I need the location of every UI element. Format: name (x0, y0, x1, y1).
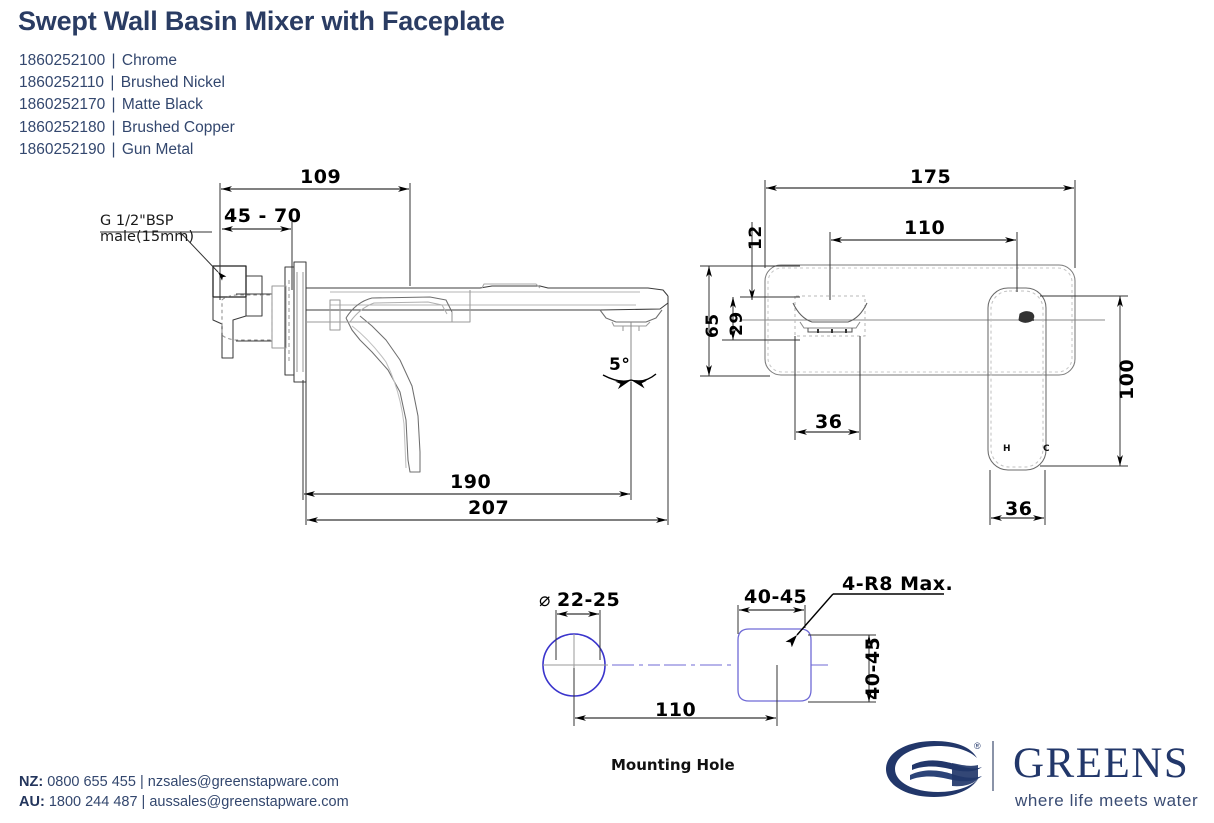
dimension-label-45-70: 45 - 70 (224, 205, 302, 227)
sku-list: 1860252100 | Chrome 1860252110 | Brushed… (19, 50, 235, 161)
dimension-label-36-spout: 36 (815, 411, 842, 433)
dimension-label-110-spacing: 110 (655, 699, 696, 721)
bsp-note-line2: male(15mm) (100, 229, 194, 245)
contact-phone-nz: 0800 655 455 (47, 774, 136, 790)
list-item: 1860252100 | Chrome (19, 50, 235, 72)
contact-email-au[interactable]: aussales@greenstapware.com (149, 794, 348, 810)
footer-contacts: NZ: 0800 655 455 | nzsales@greenstapware… (19, 772, 349, 812)
greens-g-wave-icon (882, 739, 988, 799)
sku-finish: Brushed Copper (122, 119, 235, 136)
handle-marker-hot: H (1003, 444, 1011, 454)
brand-tagline: where life meets water (1015, 791, 1198, 811)
contact-region-nz: NZ: (19, 774, 43, 790)
sku-code: 1860252170 (19, 96, 105, 113)
dimension-label-diameter-symbol: ⌀ (539, 589, 551, 611)
sku-separator: | (110, 96, 118, 113)
brand-name: GREENS (1013, 738, 1189, 790)
side-view-geometry (213, 262, 668, 472)
dimension-label-29: 29 (727, 311, 747, 336)
dimension-label-100: 100 (1116, 359, 1138, 400)
list-item: 1860252190 | Gun Metal (19, 139, 235, 161)
dimension-label-207: 207 (468, 497, 509, 519)
list-item: 1860252170 | Matte Black (19, 94, 235, 116)
sku-separator: | (110, 141, 118, 158)
sku-separator: | (110, 52, 118, 69)
dimension-label-12: 12 (746, 225, 766, 250)
sku-finish: Matte Black (122, 96, 203, 113)
dimension-label-175: 175 (910, 166, 951, 188)
sku-finish: Gun Metal (122, 141, 194, 158)
contact-phone-au: 1800 244 487 (49, 794, 138, 810)
contact-row-nz: NZ: 0800 655 455 | nzsales@greenstapware… (19, 772, 349, 792)
front-view-geometry (740, 265, 1105, 470)
sku-code: 1860252190 (19, 141, 105, 158)
contact-separator: | (142, 794, 146, 810)
sku-code: 1860252180 (19, 119, 105, 136)
spec-sheet: Swept Wall Basin Mixer with Faceplate 18… (0, 0, 1214, 823)
handle-marker-cold: C (1043, 444, 1050, 454)
brand-logo: ® GREENS where life meets water (882, 737, 1198, 815)
dimension-label-109: 109 (300, 166, 341, 188)
contact-row-au: AU: 1800 244 487 | aussales@greenstapwar… (19, 792, 349, 812)
list-item: 1860252180 | Brushed Copper (19, 117, 235, 139)
page-title: Swept Wall Basin Mixer with Faceplate (18, 6, 505, 37)
list-item: 1860252110 | Brushed Nickel (19, 72, 235, 94)
bsp-note-line1: G 1/2"BSP (100, 213, 174, 229)
contact-email-nz[interactable]: nzsales@greenstapware.com (148, 774, 339, 790)
dimension-label-5-degrees: 5° (609, 355, 630, 375)
mounting-hole-dimension-lines (556, 594, 944, 726)
bsp-thread-note: G 1/2"BSP male(15mm) (100, 213, 194, 245)
contact-separator: | (140, 774, 144, 790)
sku-finish: Chrome (122, 52, 177, 69)
dimension-label-110-front: 110 (904, 217, 945, 239)
mounting-hole-geometry (543, 629, 828, 701)
sku-finish: Brushed Nickel (121, 74, 225, 91)
dimension-label-65: 65 (703, 313, 723, 338)
logo-divider (992, 741, 994, 791)
sku-code: 1860252100 (19, 52, 105, 69)
dimension-label-4-r8-max: 4-R8 Max. (842, 573, 953, 595)
registered-trademark-icon: ® (974, 741, 981, 751)
dimension-label-190: 190 (450, 471, 491, 493)
sku-separator: | (108, 74, 116, 91)
dimension-label-36-handle: 36 (1005, 498, 1032, 520)
sku-separator: | (110, 119, 118, 136)
dimension-label-22-25: 22-25 (557, 589, 620, 611)
sku-code: 1860252110 (19, 74, 104, 91)
contact-region-au: AU: (19, 794, 45, 810)
dimension-label-40-45-width: 40-45 (744, 586, 807, 608)
dimension-label-40-45-height: 40-45 (862, 637, 884, 700)
mounting-hole-caption: Mounting Hole (611, 756, 735, 774)
